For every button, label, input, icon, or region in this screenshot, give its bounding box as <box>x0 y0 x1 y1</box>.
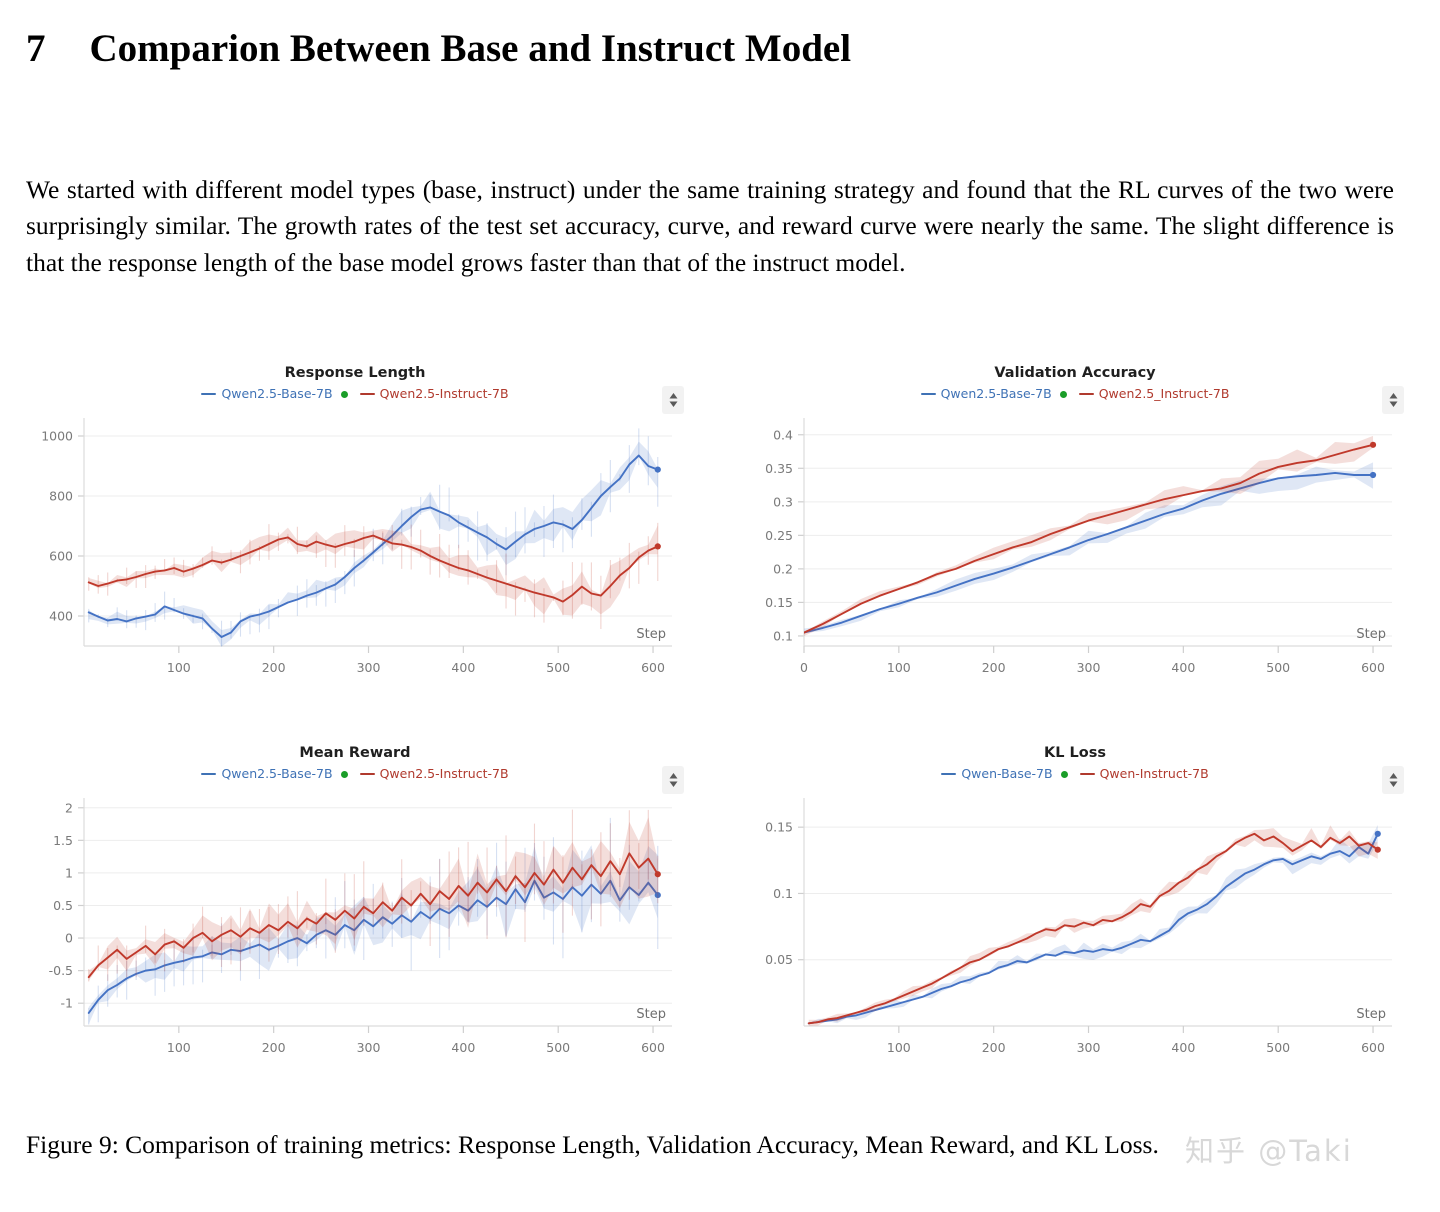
svg-text:0.15: 0.15 <box>765 820 793 835</box>
svg-text:400: 400 <box>49 609 73 624</box>
svg-text:0.15: 0.15 <box>765 595 793 610</box>
plot-area: -1-0.500.511.52100200300400500600Step <box>20 790 690 1072</box>
legend-label-instruct: Qwen2.5-Instruct-7B <box>380 765 509 783</box>
svg-text:400: 400 <box>1171 660 1195 675</box>
svg-text:200: 200 <box>262 660 286 675</box>
svg-text:500: 500 <box>546 660 570 675</box>
chart-panel-validation-accuracy: Validation Accuracy Qwen2.5-Base-7B Qwen… <box>740 362 1410 692</box>
chart-title: Validation Accuracy <box>740 362 1410 384</box>
svg-text:500: 500 <box>1266 1040 1290 1055</box>
legend-entry-base[interactable]: Qwen2.5-Base-7B <box>201 385 347 403</box>
legend-entry-base[interactable]: Qwen2.5-Base-7B <box>921 385 1067 403</box>
svg-text:-0.5: -0.5 <box>49 963 73 978</box>
svg-text:Step: Step <box>1356 1007 1386 1022</box>
svg-text:800: 800 <box>49 489 73 504</box>
chart-legend: Qwen2.5-Base-7B Qwen2.5-Instruct-7B <box>20 385 690 403</box>
svg-text:0.3: 0.3 <box>773 494 793 509</box>
svg-text:100: 100 <box>887 1040 911 1055</box>
legend-swatch-base <box>921 393 936 396</box>
legend-label-instruct: Qwen2.5-Instruct-7B <box>380 385 509 403</box>
svg-text:300: 300 <box>1077 1040 1101 1055</box>
svg-text:0.05: 0.05 <box>765 952 793 967</box>
legend-label-base: Qwen2.5-Base-7B <box>941 385 1052 403</box>
svg-text:400: 400 <box>451 1040 475 1055</box>
svg-text:Step: Step <box>1356 627 1386 642</box>
svg-text:-1: -1 <box>61 996 73 1011</box>
svg-text:600: 600 <box>641 660 665 675</box>
svg-text:100: 100 <box>167 1040 191 1055</box>
legend-entry-base[interactable]: Qwen2.5-Base-7B <box>201 765 347 783</box>
document-page: 7Comparion Between Base and Instruct Mod… <box>0 0 1440 1212</box>
svg-text:300: 300 <box>1077 660 1101 675</box>
watermark: 知乎 @Taki <box>1185 1128 1353 1170</box>
svg-text:0: 0 <box>65 931 73 946</box>
chart-panel-mean-reward: Mean Reward Qwen2.5-Base-7B Qwen2.5-Inst… <box>20 742 690 1072</box>
svg-text:400: 400 <box>1171 1040 1195 1055</box>
legend-swatch-instruct <box>360 773 375 776</box>
svg-text:100: 100 <box>887 660 911 675</box>
svg-text:0: 0 <box>800 660 808 675</box>
plot-area: 4006008001000100200300400500600Step <box>20 410 690 692</box>
plot-area: 0.050.10.15100200300400500600Step <box>740 790 1410 1072</box>
legend-green-dot-icon <box>1060 391 1067 398</box>
svg-text:1: 1 <box>65 865 73 880</box>
legend-swatch-base <box>941 773 956 776</box>
svg-text:600: 600 <box>641 1040 665 1055</box>
svg-text:500: 500 <box>546 1040 570 1055</box>
chart-legend: Qwen2.5-Base-7B Qwen2.5-Instruct-7B <box>20 765 690 783</box>
svg-text:600: 600 <box>1361 1040 1385 1055</box>
legend-swatch-instruct <box>1080 773 1095 776</box>
legend-entry-instruct[interactable]: Qwen-Instruct-7B <box>1080 765 1209 783</box>
svg-text:600: 600 <box>1361 660 1385 675</box>
plot-area: 0.10.150.20.250.30.350.40100200300400500… <box>740 410 1410 692</box>
svg-text:0.5: 0.5 <box>53 898 73 913</box>
section-number: 7 <box>26 27 46 70</box>
svg-text:2: 2 <box>65 800 73 815</box>
legend-entry-instruct[interactable]: Qwen2.5-Instruct-7B <box>360 385 509 403</box>
legend-entry-base[interactable]: Qwen-Base-7B <box>941 765 1067 783</box>
chart-panel-kl-loss: KL Loss Qwen-Base-7B Qwen-Instruct-7B 0.… <box>740 742 1410 1072</box>
legend-green-dot-icon <box>341 771 348 778</box>
legend-label-instruct: Qwen2.5_Instruct-7B <box>1099 385 1230 403</box>
svg-text:200: 200 <box>982 1040 1006 1055</box>
chart-title: Mean Reward <box>20 742 690 764</box>
legend-label-instruct: Qwen-Instruct-7B <box>1100 765 1209 783</box>
svg-text:400: 400 <box>451 660 475 675</box>
legend-label-base: Qwen2.5-Base-7B <box>221 765 332 783</box>
chart-panel-response-length: Response Length Qwen2.5-Base-7B Qwen2.5-… <box>20 362 690 692</box>
svg-text:0.1: 0.1 <box>773 886 793 901</box>
chart-title: Response Length <box>20 362 690 384</box>
legend-entry-instruct[interactable]: Qwen2.5-Instruct-7B <box>360 765 509 783</box>
legend-green-dot-icon <box>1061 771 1068 778</box>
figure-9: Response Length Qwen2.5-Base-7B Qwen2.5-… <box>20 362 1420 1082</box>
chart-title: KL Loss <box>740 742 1410 764</box>
svg-text:0.35: 0.35 <box>765 461 793 476</box>
legend-label-base: Qwen2.5-Base-7B <box>221 385 332 403</box>
svg-text:100: 100 <box>167 660 191 675</box>
section-heading-text: Comparion Between Base and Instruct Mode… <box>90 27 852 70</box>
svg-text:200: 200 <box>262 1040 286 1055</box>
legend-green-dot-icon <box>341 391 348 398</box>
svg-text:300: 300 <box>357 660 381 675</box>
legend-swatch-base <box>201 773 216 776</box>
legend-entry-instruct[interactable]: Qwen2.5_Instruct-7B <box>1079 385 1230 403</box>
svg-text:1.5: 1.5 <box>53 833 73 848</box>
svg-text:500: 500 <box>1266 660 1290 675</box>
svg-text:1000: 1000 <box>41 429 73 444</box>
svg-text:0.2: 0.2 <box>773 561 793 576</box>
svg-text:Step: Step <box>636 1007 666 1022</box>
figure-caption: Figure 9: Comparison of training metrics… <box>26 1126 1256 1163</box>
svg-text:300: 300 <box>357 1040 381 1055</box>
svg-text:600: 600 <box>49 549 73 564</box>
chart-legend: Qwen-Base-7B Qwen-Instruct-7B <box>740 765 1410 783</box>
svg-text:0.4: 0.4 <box>773 427 793 442</box>
legend-label-base: Qwen-Base-7B <box>961 765 1052 783</box>
svg-text:200: 200 <box>982 660 1006 675</box>
chart-legend: Qwen2.5-Base-7B Qwen2.5_Instruct-7B <box>740 385 1410 403</box>
legend-swatch-instruct <box>1079 393 1094 396</box>
svg-text:0.1: 0.1 <box>773 628 793 643</box>
body-paragraph: We started with different model types (b… <box>26 172 1394 282</box>
page-title: 7Comparion Between Base and Instruct Mod… <box>26 26 851 71</box>
svg-text:0.25: 0.25 <box>765 528 793 543</box>
svg-text:Step: Step <box>636 627 666 642</box>
legend-swatch-instruct <box>360 393 375 396</box>
legend-swatch-base <box>201 393 216 396</box>
